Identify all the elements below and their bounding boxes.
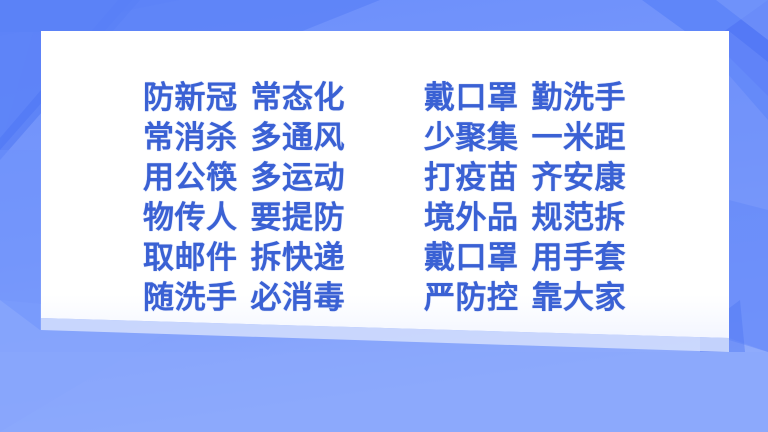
slogan-phrase-a: 取邮件 bbox=[143, 238, 238, 278]
slogan-phrase-b: 靠大家 bbox=[532, 278, 627, 318]
slogan-phrase-a: 严防控 bbox=[424, 278, 519, 318]
slogan-phrase-b: 勤洗手 bbox=[532, 78, 627, 118]
slogan-phrase-b: 规范拆 bbox=[532, 198, 627, 238]
slogan-line: 少聚集 一米距 bbox=[424, 118, 626, 158]
slogan-phrase-a: 常消杀 bbox=[143, 118, 238, 158]
slogan-phrase-a: 防新冠 bbox=[143, 78, 238, 118]
slogan-line: 防新冠 常态化 bbox=[143, 78, 345, 118]
slogan-phrase-a: 打疫苗 bbox=[424, 158, 519, 198]
slogan-phrase-b: 用手套 bbox=[532, 238, 627, 278]
slogan-phrase-b: 必消毒 bbox=[251, 278, 346, 318]
slogan-layer: 防新冠 常态化 常消杀 多通风 用公筷 多运动 物传人 要提防 取邮件 拆快递 … bbox=[0, 0, 768, 432]
slogan-line: 戴口罩 勤洗手 bbox=[424, 78, 626, 118]
slogan-phrase-b: 多通风 bbox=[251, 118, 346, 158]
slogan-phrase-a: 少聚集 bbox=[424, 118, 519, 158]
slogan-phrase-a: 境外品 bbox=[424, 198, 519, 238]
slogan-column-right: 戴口罩 勤洗手 少聚集 一米距 打疫苗 齐安康 境外品 规范拆 戴口罩 用手套 … bbox=[424, 78, 626, 318]
slogan-phrase-a: 戴口罩 bbox=[424, 238, 519, 278]
slogan-column-left: 防新冠 常态化 常消杀 多通风 用公筷 多运动 物传人 要提防 取邮件 拆快递 … bbox=[143, 78, 345, 318]
slogan-phrase-b: 拆快递 bbox=[251, 238, 346, 278]
slogan-phrase-b: 要提防 bbox=[251, 198, 346, 238]
slogan-phrase-a: 用公筷 bbox=[143, 158, 238, 198]
slogan-phrase-b: 齐安康 bbox=[532, 158, 627, 198]
slogan-line: 打疫苗 齐安康 bbox=[424, 158, 626, 198]
slogan-line: 物传人 要提防 bbox=[143, 198, 345, 238]
slogan-line: 取邮件 拆快递 bbox=[143, 238, 345, 278]
slogan-phrase-a: 戴口罩 bbox=[424, 78, 519, 118]
slogan-line: 境外品 规范拆 bbox=[424, 198, 626, 238]
slogan-line: 戴口罩 用手套 bbox=[424, 238, 626, 278]
slogan-phrase-a: 物传人 bbox=[143, 198, 238, 238]
slogan-line: 随洗手 必消毒 bbox=[143, 278, 345, 318]
slogan-phrase-b: 一米距 bbox=[532, 118, 627, 158]
slogan-line: 常消杀 多通风 bbox=[143, 118, 345, 158]
slogan-phrase-b: 常态化 bbox=[251, 78, 346, 118]
slogan-line: 严防控 靠大家 bbox=[424, 278, 626, 318]
slogan-phrase-a: 随洗手 bbox=[143, 278, 238, 318]
poster-canvas: 防新冠 常态化 常消杀 多通风 用公筷 多运动 物传人 要提防 取邮件 拆快递 … bbox=[0, 0, 768, 432]
slogan-line: 用公筷 多运动 bbox=[143, 158, 345, 198]
slogan-phrase-b: 多运动 bbox=[251, 158, 346, 198]
